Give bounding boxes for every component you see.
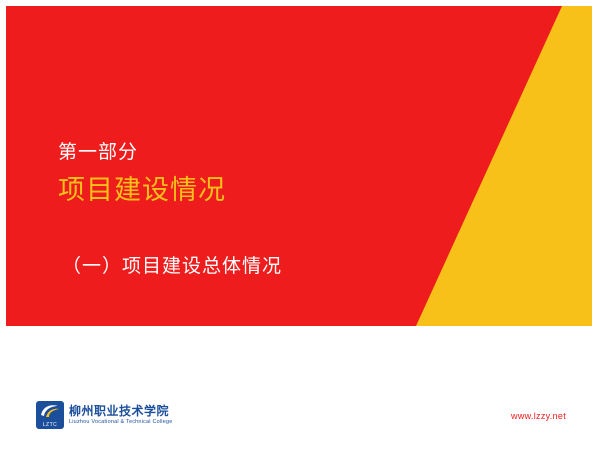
college-logo: LZTC 柳州职业技术学院 Liuzhou Vocational & Techn… xyxy=(36,401,173,429)
logo-emblem-icon: LZTC xyxy=(36,401,64,429)
slide-canvas: 第一部分 项目建设情况 （一）项目建设总体情况 LZTC 柳州职业技术学院 Li… xyxy=(6,6,598,447)
slide-footer: LZTC 柳州职业技术学院 Liuzhou Vocational & Techn… xyxy=(6,326,598,447)
right-white-strip xyxy=(592,6,598,326)
logo-mark-text: LZTC xyxy=(36,422,64,428)
title-group: 第一部分 项目建设情况 xyxy=(58,140,458,208)
logo-swoosh-icon xyxy=(39,403,61,419)
website-url[interactable]: www.lzzy.net xyxy=(511,411,566,421)
logo-name-cn: 柳州职业技术学院 xyxy=(69,404,173,418)
presentation-slide: 第一部分 项目建设情况 （一）项目建设总体情况 LZTC 柳州职业技术学院 Li… xyxy=(0,0,604,453)
page-title: 项目建设情况 xyxy=(58,172,458,208)
logo-name-en: Liuzhou Vocational & Technical College xyxy=(69,418,173,426)
part-label: 第一部分 xyxy=(58,140,458,166)
logo-text-group: 柳州职业技术学院 Liuzhou Vocational & Technical … xyxy=(69,404,173,426)
subtitle: （一）项目建设总体情况 xyxy=(62,251,282,278)
